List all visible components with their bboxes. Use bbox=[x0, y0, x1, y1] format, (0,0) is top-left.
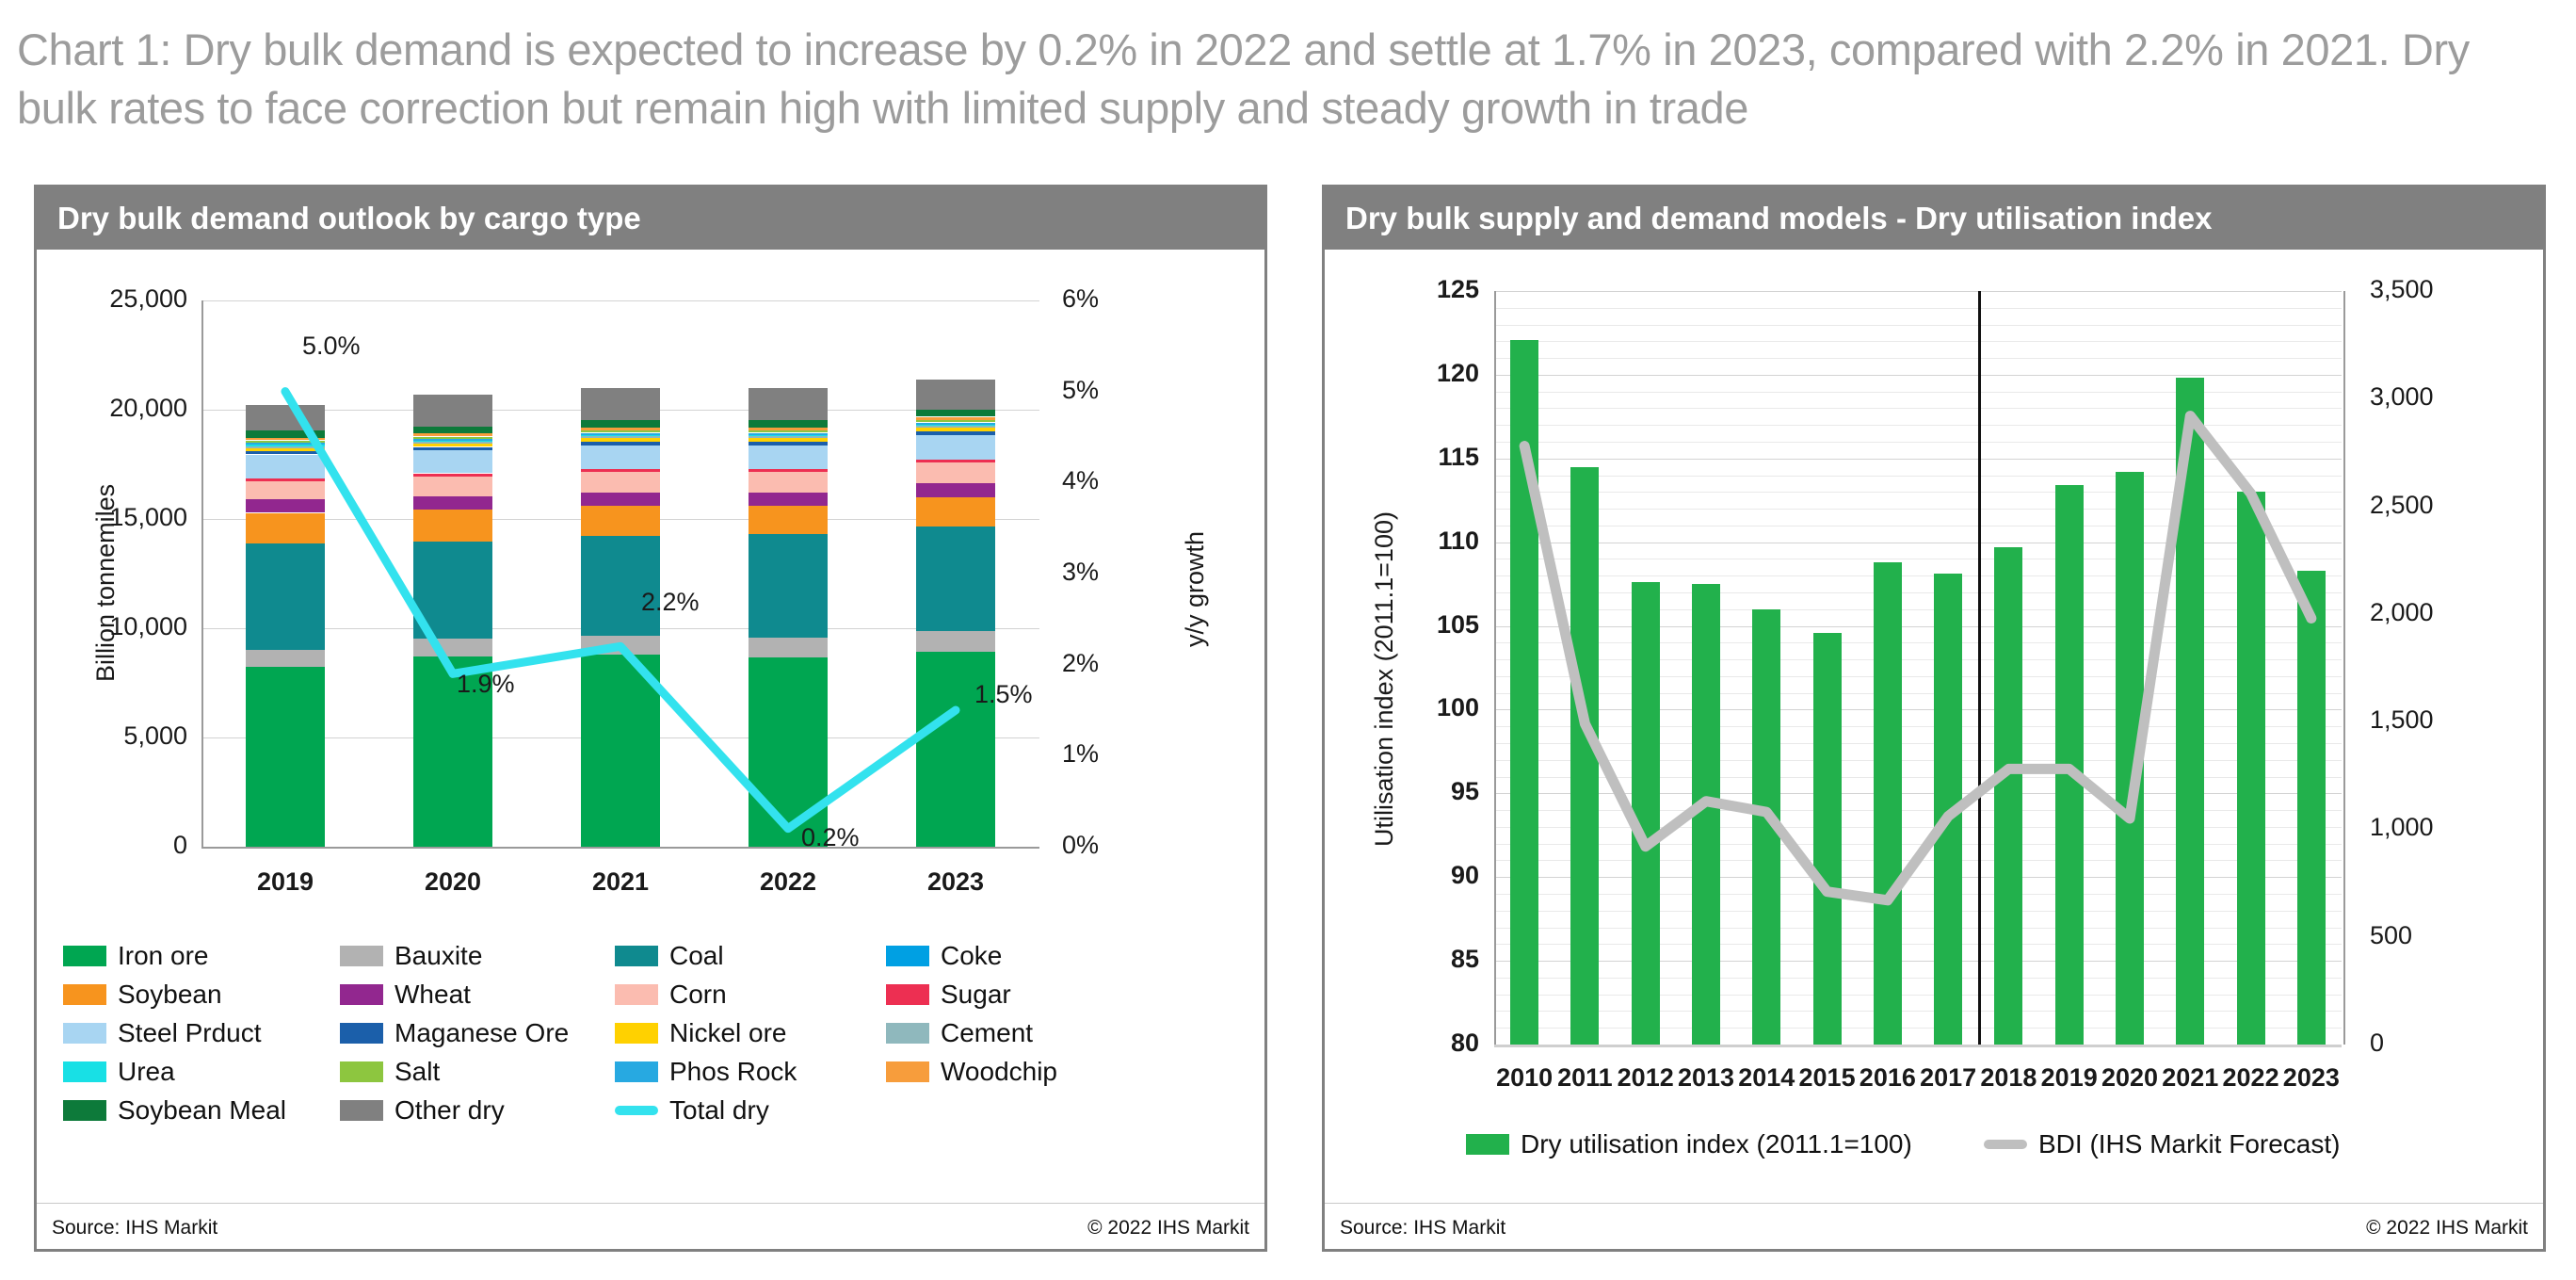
left-chart-legend-item-steel-prduct: Steel Prduct bbox=[63, 1018, 262, 1048]
left-chart-segment-woodchip bbox=[413, 433, 492, 436]
left-chart-segment-nickel-ore bbox=[916, 428, 995, 431]
left-chart-ytick: 0 bbox=[60, 831, 187, 860]
left-chart-xtick-2023: 2023 bbox=[871, 867, 1040, 897]
left-chart-xtick-2022: 2022 bbox=[703, 867, 873, 897]
left-chart-segment-bauxite bbox=[246, 649, 325, 667]
left-chart-segment-steel-prduct bbox=[749, 446, 828, 469]
right-chart-bar-2019 bbox=[2055, 485, 2084, 1045]
left-chart-segment-other-dry bbox=[916, 380, 995, 410]
left-chart-legend-label: Total dry bbox=[669, 1095, 769, 1126]
left-chart-segment-bauxite bbox=[749, 638, 828, 657]
left-chart-bar-2019 bbox=[246, 300, 325, 847]
left-chart-legend-swatch-woodchip bbox=[886, 1061, 929, 1082]
left-chart-segment-maganese-ore bbox=[413, 447, 492, 450]
right-chart-bar-2016 bbox=[1874, 562, 1902, 1045]
left-chart-segment-bauxite bbox=[916, 631, 995, 652]
right-chart-gridline bbox=[1494, 1028, 2342, 1029]
left-chart-legend-swatch-wheat bbox=[340, 984, 383, 1005]
right-chart-gridline bbox=[1494, 559, 2342, 559]
right-chart-gridline bbox=[1494, 928, 2342, 929]
left-chart-legend-label: Sugar bbox=[941, 980, 1011, 1010]
left-chart-legend-label: Maganese Ore bbox=[394, 1018, 569, 1048]
left-chart-legend-label: Cement bbox=[941, 1018, 1033, 1048]
left-chart-xtick-2021: 2021 bbox=[536, 867, 705, 897]
left-chart-segment-other-dry bbox=[581, 388, 660, 420]
left-chart-legend-label: Salt bbox=[394, 1057, 440, 1087]
right-chart-gridline bbox=[1494, 341, 2342, 342]
right-chart-gridline bbox=[1494, 693, 2342, 694]
left-chart-legend-swatch-cement bbox=[886, 1023, 929, 1044]
left-chart-segment-steel-prduct bbox=[246, 455, 325, 478]
right-chart-gridline bbox=[1494, 526, 2342, 527]
left-chart-segment-wheat bbox=[749, 493, 828, 506]
right-chart-y2tick: 2,000 bbox=[2370, 598, 2511, 627]
left-chart-segment-corn bbox=[581, 472, 660, 493]
left-chart-segment-urea bbox=[246, 445, 325, 446]
right-chart-gridline bbox=[1494, 877, 2342, 878]
left-chart-legend-item-corn: Corn bbox=[615, 980, 727, 1010]
left-chart-segment-nickel-ore bbox=[413, 444, 492, 446]
right-chart-gridline bbox=[1494, 642, 2342, 643]
right-chart-ytick: 125 bbox=[1355, 275, 1479, 304]
left-chart-y2tick: 2% bbox=[1062, 649, 1166, 678]
right-chart-y-axis-title: Utilisation index (2011.1=100) bbox=[1370, 511, 1399, 847]
left-chart-segment-cement bbox=[916, 426, 995, 428]
left-chart-legend-swatch-sugar bbox=[886, 984, 929, 1005]
right-chart-gridline bbox=[1494, 543, 2342, 543]
right-chart-gridline bbox=[1494, 459, 2342, 460]
right-footer-rule bbox=[1325, 1203, 2543, 1204]
left-chart-segment-soybean-meal bbox=[413, 426, 492, 433]
left-chart-legend-item-other-dry: Other dry bbox=[340, 1095, 505, 1126]
right-chart-y2tick: 3,500 bbox=[2370, 275, 2511, 304]
left-chart-segment-phos-rock bbox=[749, 433, 828, 435]
left-chart-legend-item-total-dry: Total dry bbox=[615, 1095, 769, 1126]
left-chart-legend-swatch-coal bbox=[615, 946, 658, 966]
right-chart-y2tick: 500 bbox=[2370, 921, 2511, 950]
left-chart-legend-item-nickel-ore: Nickel ore bbox=[615, 1018, 786, 1048]
left-chart-segment-sugar bbox=[581, 469, 660, 472]
left-chart-legend-swatch-phos-rock bbox=[615, 1061, 658, 1082]
left-chart-datalabel-2020: 1.9% bbox=[457, 670, 515, 699]
left-chart-legend-label: Phos Rock bbox=[669, 1057, 797, 1087]
left-chart-segment-steel-prduct bbox=[581, 446, 660, 469]
right-chart-bar-2010 bbox=[1510, 340, 1538, 1045]
left-chart-segment-other-dry bbox=[413, 395, 492, 427]
left-chart-segment-maganese-ore bbox=[749, 442, 828, 446]
left-chart-xtick-2019: 2019 bbox=[201, 867, 370, 897]
right-chart-gridline bbox=[1494, 609, 2342, 610]
left-chart-segment-soybean-meal bbox=[246, 430, 325, 438]
left-chart-legend-item-urea: Urea bbox=[63, 1057, 175, 1087]
left-chart-segment-sugar bbox=[246, 478, 325, 481]
left-chart-segment-coal bbox=[581, 536, 660, 636]
left-chart-legend-item-sugar: Sugar bbox=[886, 980, 1011, 1010]
right-chart-gridline bbox=[1494, 726, 2342, 727]
page-root: Chart 1: Dry bulk demand is expected to … bbox=[0, 0, 2576, 1280]
right-chart-legend: Dry utilisation index (2011.1=100)BDI (I… bbox=[1325, 1129, 2549, 1186]
left-chart-legend-item-soybean-meal: Soybean Meal bbox=[63, 1095, 286, 1126]
right-chart-gridline bbox=[1494, 676, 2342, 677]
left-chart-legend-item-cement: Cement bbox=[886, 1018, 1033, 1048]
right-chart-plot-area: 8085909510010511011512012505001,0001,500… bbox=[1325, 187, 2549, 1255]
left-chart-segment-maganese-ore bbox=[246, 451, 325, 454]
left-source-label: Source: IHS Markit bbox=[52, 1217, 217, 1239]
left-chart-legend-item-salt: Salt bbox=[340, 1057, 440, 1087]
left-chart-segment-nickel-ore bbox=[749, 438, 828, 442]
left-chart-legend-label: Iron ore bbox=[118, 941, 209, 971]
right-chart-y-axis bbox=[1494, 291, 1496, 1045]
left-chart-segment-coal bbox=[916, 527, 995, 631]
right-chart-legend-label-bdi: BDI (IHS Markit Forecast) bbox=[2038, 1129, 2340, 1159]
left-chart-y2tick: 1% bbox=[1062, 739, 1166, 769]
right-chart-gridline bbox=[1494, 509, 2342, 510]
right-chart-bar-2011 bbox=[1570, 467, 1599, 1045]
right-chart-gridline bbox=[1494, 777, 2342, 778]
left-chart-x-axis bbox=[201, 847, 1039, 849]
right-chart-ytick: 80 bbox=[1355, 1029, 1479, 1058]
left-chart-ytick: 10,000 bbox=[60, 612, 187, 641]
right-chart-gridline bbox=[1494, 1011, 2342, 1012]
left-chart-segment-corn bbox=[916, 462, 995, 483]
left-chart-legend-swatch-coke bbox=[886, 946, 929, 966]
left-chart-bar-2023 bbox=[916, 300, 995, 847]
right-chart-gridline bbox=[1494, 358, 2342, 359]
left-chart-segment-steel-prduct bbox=[413, 450, 492, 473]
left-chart-segment-woodchip bbox=[581, 428, 660, 430]
left-chart-segment-corn bbox=[413, 477, 492, 496]
right-chart-gridline bbox=[1494, 911, 2342, 912]
left-chart-legend-swatch-nickel-ore bbox=[615, 1023, 658, 1044]
left-chart-y2tick: 6% bbox=[1062, 284, 1166, 314]
right-chart-y2tick: 3,000 bbox=[2370, 382, 2511, 412]
right-chart-x-axis bbox=[1494, 1045, 2342, 1047]
left-chart-segment-wheat bbox=[413, 495, 492, 510]
left-chart-segment-salt bbox=[749, 430, 828, 432]
left-chart-segment-nickel-ore bbox=[581, 438, 660, 442]
left-chart-segment-soybean-meal bbox=[581, 420, 660, 428]
left-chart-legend-swatch-other-dry bbox=[340, 1100, 383, 1121]
right-source-label: Source: IHS Markit bbox=[1340, 1217, 1505, 1239]
right-chart-gridline bbox=[1494, 476, 2342, 477]
left-chart-segment-phos-rock bbox=[413, 439, 492, 441]
left-chart-segment-steel-prduct bbox=[916, 435, 995, 460]
left-chart-datalabel-2022: 0.2% bbox=[801, 823, 860, 852]
right-chart-gridline bbox=[1494, 793, 2342, 794]
left-chart-y-axis-title: Billion tonnemiles bbox=[91, 484, 121, 682]
left-footer-rule bbox=[37, 1203, 1264, 1204]
left-chart-segment-soybean bbox=[916, 497, 995, 527]
left-chart-segment-coal bbox=[413, 542, 492, 639]
right-chart-gridline bbox=[1494, 575, 2342, 576]
left-chart-segment-phos-rock bbox=[581, 433, 660, 435]
right-chart-gridline bbox=[1494, 961, 2342, 962]
left-chart-legend-label: Soybean Meal bbox=[118, 1095, 286, 1126]
left-copyright-label: © 2022 IHS Markit bbox=[1087, 1217, 1249, 1239]
left-chart-ytick: 25,000 bbox=[60, 284, 187, 314]
left-chart-legend-swatch-steel-prduct bbox=[63, 1023, 106, 1044]
left-chart-segment-soybean-meal bbox=[749, 420, 828, 428]
left-chart-legend-swatch-corn bbox=[615, 984, 658, 1005]
left-chart-segment-soybean bbox=[246, 513, 325, 543]
right-chart-bar-2013 bbox=[1692, 584, 1720, 1045]
right-chart-gridline bbox=[1494, 844, 2342, 845]
right-chart-gridline bbox=[1494, 743, 2342, 744]
right-copyright-label: © 2022 IHS Markit bbox=[2366, 1217, 2528, 1239]
right-chart-gridline bbox=[1494, 291, 2342, 292]
left-chart-segment-corn bbox=[246, 481, 325, 499]
left-chart-segment-salt bbox=[916, 420, 995, 422]
right-chart-gridline bbox=[1494, 442, 2342, 443]
left-chart-legend-label: Nickel ore bbox=[669, 1018, 786, 1048]
left-chart-legend-label: Other dry bbox=[394, 1095, 505, 1126]
left-chart-segment-cement bbox=[749, 436, 828, 438]
right-chart-gridline bbox=[1494, 659, 2342, 660]
left-chart-segment-soybean bbox=[581, 506, 660, 536]
right-chart-y2tick: 1,500 bbox=[2370, 705, 2511, 735]
left-chart-legend-label: Coke bbox=[941, 941, 1002, 971]
left-chart-segment-cement bbox=[246, 446, 325, 448]
right-chart-gridline bbox=[1494, 425, 2342, 426]
left-chart-segment-maganese-ore bbox=[916, 431, 995, 435]
left-chart-segment-iron-ore bbox=[749, 657, 828, 847]
right-chart-gridline bbox=[1494, 325, 2342, 326]
left-chart-legend-label: Urea bbox=[118, 1057, 175, 1087]
left-chart-y-axis bbox=[201, 300, 203, 847]
right-chart-legend-swatch-bdi bbox=[1984, 1140, 2027, 1149]
right-chart-ytick: 85 bbox=[1355, 945, 1479, 974]
left-chart-legend-swatch-bauxite bbox=[340, 946, 383, 966]
left-chart-legend-item-coal: Coal bbox=[615, 941, 724, 971]
left-chart-segment-maganese-ore bbox=[581, 442, 660, 446]
right-chart-gridline bbox=[1494, 944, 2342, 945]
right-chart-bar-2018 bbox=[1994, 547, 2022, 1045]
left-chart-legend: Iron oreBauxiteCoalCokeSoybeanWheatCornS… bbox=[57, 941, 1253, 1139]
right-chart-legend-swatch-dry-utilisation-index bbox=[1466, 1134, 1509, 1155]
left-chart-legend-swatch-total-dry bbox=[615, 1106, 658, 1115]
right-chart-gridline bbox=[1494, 408, 2342, 409]
left-chart-segment-wheat bbox=[581, 492, 660, 506]
right-chart-y2-axis bbox=[2343, 291, 2345, 1045]
left-chart-legend-swatch-iron-ore bbox=[63, 946, 106, 966]
left-chart-ytick: 15,000 bbox=[60, 503, 187, 532]
right-chart-xtick-2023: 2023 bbox=[2255, 1063, 2368, 1093]
left-chart-segment-salt bbox=[246, 441, 325, 443]
left-chart-segment-woodchip bbox=[749, 428, 828, 430]
right-chart-bar-2023 bbox=[2297, 571, 2326, 1045]
left-chart-legend-swatch-soybean-meal bbox=[63, 1100, 106, 1121]
left-chart-segment-other-dry bbox=[246, 405, 325, 430]
left-chart-segment-salt bbox=[581, 430, 660, 432]
left-chart-datalabel-2023: 1.5% bbox=[974, 680, 1033, 709]
left-chart-legend-label: Steel Prduct bbox=[118, 1018, 262, 1048]
left-chart-segment-nickel-ore bbox=[246, 448, 325, 451]
left-chart-y2tick: 0% bbox=[1062, 831, 1166, 860]
right-chart-legend-label-dry-utilisation-index: Dry utilisation index (2011.1=100) bbox=[1521, 1129, 1912, 1159]
left-chart-legend-label: Bauxite bbox=[394, 941, 482, 971]
left-chart-segment-phos-rock bbox=[916, 423, 995, 425]
left-chart-legend-swatch-maganese-ore bbox=[340, 1023, 383, 1044]
left-chart-segment-wheat bbox=[916, 483, 995, 497]
right-chart-gridline bbox=[1494, 492, 2342, 493]
left-chart-segment-corn bbox=[749, 472, 828, 493]
right-chart-y2tick: 0 bbox=[2370, 1029, 2511, 1058]
page-title: Chart 1: Dry bulk demand is expected to … bbox=[17, 21, 2550, 138]
right-chart-gridline bbox=[1494, 827, 2342, 828]
left-chart-legend-item-wheat: Wheat bbox=[340, 980, 471, 1010]
left-chart-bar-2021 bbox=[581, 300, 660, 847]
left-chart-segment-cement bbox=[413, 442, 492, 444]
left-chart-legend-item-iron-ore: Iron ore bbox=[63, 941, 209, 971]
left-chart-legend-item-bauxite: Bauxite bbox=[340, 941, 482, 971]
left-chart-segment-iron-ore bbox=[581, 655, 660, 847]
left-chart-y2tick: 5% bbox=[1062, 376, 1166, 405]
right-chart-ytick: 115 bbox=[1355, 443, 1479, 472]
left-chart-bar-2020 bbox=[413, 300, 492, 847]
left-chart-panel: Dry bulk demand outlook by cargo type 05… bbox=[34, 185, 1267, 1252]
left-chart-legend-item-woodchip: Woodchip bbox=[886, 1057, 1057, 1087]
left-chart-xtick-2020: 2020 bbox=[368, 867, 538, 897]
left-chart-segment-soybean bbox=[413, 510, 492, 542]
left-chart-segment-coal bbox=[246, 543, 325, 650]
left-chart-legend-label: Corn bbox=[669, 980, 727, 1010]
right-chart-gridline bbox=[1494, 626, 2342, 627]
right-chart-gridline bbox=[1494, 592, 2342, 593]
right-chart-gridline bbox=[1494, 392, 2342, 393]
right-chart-legend-item-bdi: BDI (IHS Markit Forecast) bbox=[1984, 1129, 2340, 1159]
right-chart-bar-2020 bbox=[2116, 472, 2144, 1045]
right-chart-ytick: 120 bbox=[1355, 359, 1479, 388]
left-chart-segment-cement bbox=[581, 436, 660, 438]
left-chart-segment-bauxite bbox=[413, 639, 492, 656]
left-chart-segment-coal bbox=[749, 534, 828, 638]
right-chart-gridline bbox=[1494, 810, 2342, 811]
left-chart-legend-item-soybean: Soybean bbox=[63, 980, 222, 1010]
left-chart-legend-label: Wheat bbox=[394, 980, 471, 1010]
right-chart-gridline bbox=[1494, 978, 2342, 979]
left-chart-legend-swatch-salt bbox=[340, 1061, 383, 1082]
right-chart-bar-2021 bbox=[2176, 378, 2204, 1045]
left-chart-y2-axis-title: y/y growth bbox=[1181, 531, 1210, 647]
right-chart-bar-2015 bbox=[1813, 633, 1842, 1045]
left-chart-segment-sugar bbox=[749, 469, 828, 472]
left-chart-segment-soybean-meal bbox=[916, 409, 995, 416]
left-chart-legend-label: Soybean bbox=[118, 980, 222, 1010]
left-chart-datalabel-2019: 5.0% bbox=[302, 332, 361, 361]
right-chart-gridline bbox=[1494, 894, 2342, 895]
left-chart-legend-item-maganese-ore: Maganese Ore bbox=[340, 1018, 569, 1048]
left-chart-bar-2022 bbox=[749, 300, 828, 847]
right-chart-gridline bbox=[1494, 860, 2342, 861]
right-chart-legend-item-dry-utilisation-index: Dry utilisation index (2011.1=100) bbox=[1466, 1129, 1912, 1159]
right-chart-gridline bbox=[1494, 995, 2342, 996]
left-chart-ytick: 20,000 bbox=[60, 394, 187, 423]
left-chart-segment-other-dry bbox=[749, 388, 828, 420]
left-chart-legend-item-coke: Coke bbox=[886, 941, 1002, 971]
right-chart-gridline bbox=[1494, 709, 2342, 710]
left-chart-legend-item-phos-rock: Phos Rock bbox=[615, 1057, 797, 1087]
left-chart-legend-label: Coal bbox=[669, 941, 724, 971]
right-chart-gridline bbox=[1494, 308, 2342, 309]
left-chart-legend-label: Woodchip bbox=[941, 1057, 1057, 1087]
right-chart-bar-2022 bbox=[2237, 492, 2265, 1045]
right-chart-ytick: 90 bbox=[1355, 861, 1479, 890]
left-chart-segment-woodchip bbox=[916, 417, 995, 420]
right-chart-y2tick: 1,000 bbox=[2370, 813, 2511, 842]
left-chart-segment-soybean bbox=[749, 506, 828, 534]
right-chart-gridline bbox=[1494, 760, 2342, 761]
left-chart-datalabel-2021: 2.2% bbox=[641, 588, 700, 617]
left-chart-segment-iron-ore bbox=[246, 667, 325, 847]
right-chart-forecast-divider bbox=[1978, 291, 1981, 1045]
right-chart-panel: Dry bulk supply and demand models - Dry … bbox=[1322, 185, 2546, 1252]
right-chart-bar-2017 bbox=[1934, 574, 1962, 1045]
left-chart-segment-sugar bbox=[916, 460, 995, 462]
left-chart-y2tick: 3% bbox=[1062, 558, 1166, 587]
right-chart-gridline bbox=[1494, 375, 2342, 376]
left-chart-legend-swatch-soybean bbox=[63, 984, 106, 1005]
left-chart-segment-phos-rock bbox=[246, 443, 325, 445]
right-chart-bar-2012 bbox=[1632, 582, 1660, 1045]
left-chart-legend-swatch-urea bbox=[63, 1061, 106, 1082]
left-chart-segment-bauxite bbox=[581, 636, 660, 655]
left-chart-y2tick: 4% bbox=[1062, 466, 1166, 495]
left-chart-segment-sugar bbox=[413, 474, 492, 477]
right-chart-y2tick: 2,500 bbox=[2370, 491, 2511, 520]
left-chart-segment-salt bbox=[413, 437, 492, 439]
right-chart-bar-2014 bbox=[1752, 609, 1780, 1045]
left-chart-ytick: 5,000 bbox=[60, 721, 187, 751]
left-chart-segment-wheat bbox=[246, 499, 325, 512]
